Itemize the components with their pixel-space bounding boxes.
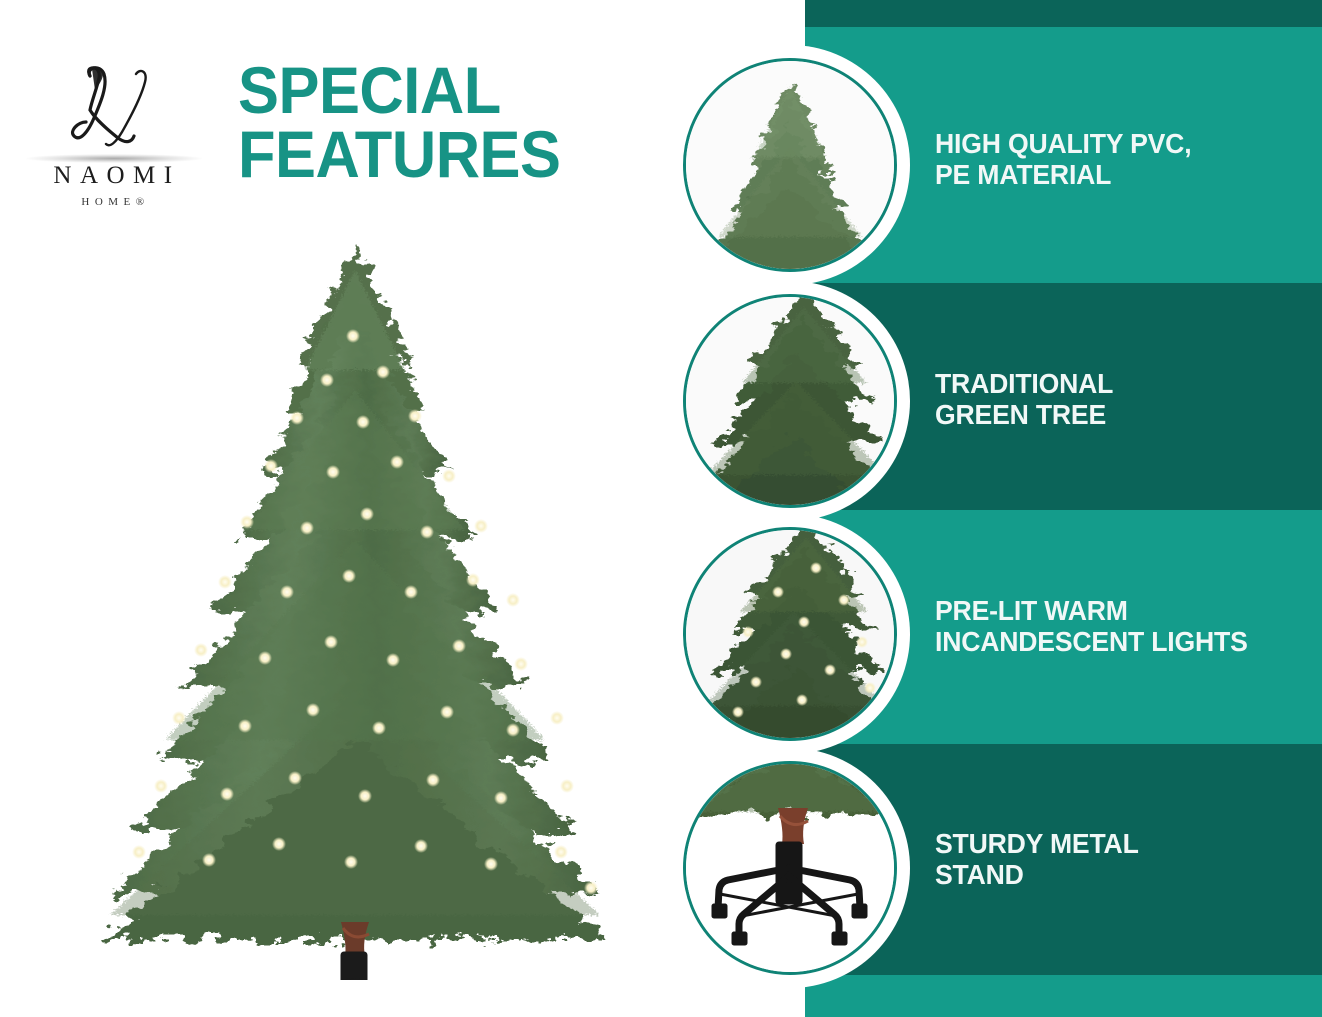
feature-label-2-line1: TRADITIONAL: [935, 368, 1296, 399]
feature-label-2: TRADITIONAL GREEN TREE: [935, 368, 1296, 431]
feature-label-3: PRE-LIT WARM INCANDESCENT LIGHTS: [935, 595, 1296, 658]
feature-label-1-line1: HIGH QUALITY PVC,: [935, 128, 1296, 159]
feature-label-1: HIGH QUALITY PVC, PE MATERIAL: [935, 128, 1296, 191]
feature-label-4-line2: STAND: [935, 859, 1296, 890]
band-bottom-accent: [790, 975, 1322, 1017]
tree-top-closeup-icon: [683, 58, 897, 272]
page-title: SPECIAL FEATURES: [238, 58, 629, 186]
feature-circle-2[interactable]: [670, 281, 910, 521]
page-title-line2: FEATURES: [238, 122, 629, 186]
feature-circle-3[interactable]: [670, 514, 910, 754]
band-top-accent: [790, 0, 1322, 27]
naomi-n-monogram-icon: [56, 62, 176, 154]
page-title-line1: SPECIAL: [238, 58, 629, 122]
metal-stand-closeup-icon: [683, 761, 897, 975]
feature-label-2-line2: GREEN TREE: [935, 399, 1296, 430]
feature-circle-1[interactable]: [670, 45, 910, 285]
hero-product-image: [75, 240, 635, 980]
metal-stand: [203, 952, 505, 980]
brand-subtitle: HOME®: [18, 196, 208, 208]
tree-lights-closeup-icon: [683, 527, 897, 741]
product-feature-infographic: NAOMI HOME® SPECIAL FEATURES: [0, 0, 1322, 1017]
feature-circle-4[interactable]: [670, 748, 910, 988]
feature-label-4: STURDY METAL STAND: [935, 828, 1296, 891]
brand-logo: NAOMI HOME®: [18, 62, 208, 212]
feature-label-3-line1: PRE-LIT WARM: [935, 595, 1296, 626]
feature-label-4-line1: STURDY METAL: [935, 828, 1296, 859]
tree-branches-closeup-icon: [683, 294, 897, 508]
feature-label-1-line2: PE MATERIAL: [935, 159, 1296, 190]
feature-label-3-line2: INCANDESCENT LIGHTS: [935, 626, 1296, 657]
brand-name: NAOMI: [18, 162, 208, 190]
